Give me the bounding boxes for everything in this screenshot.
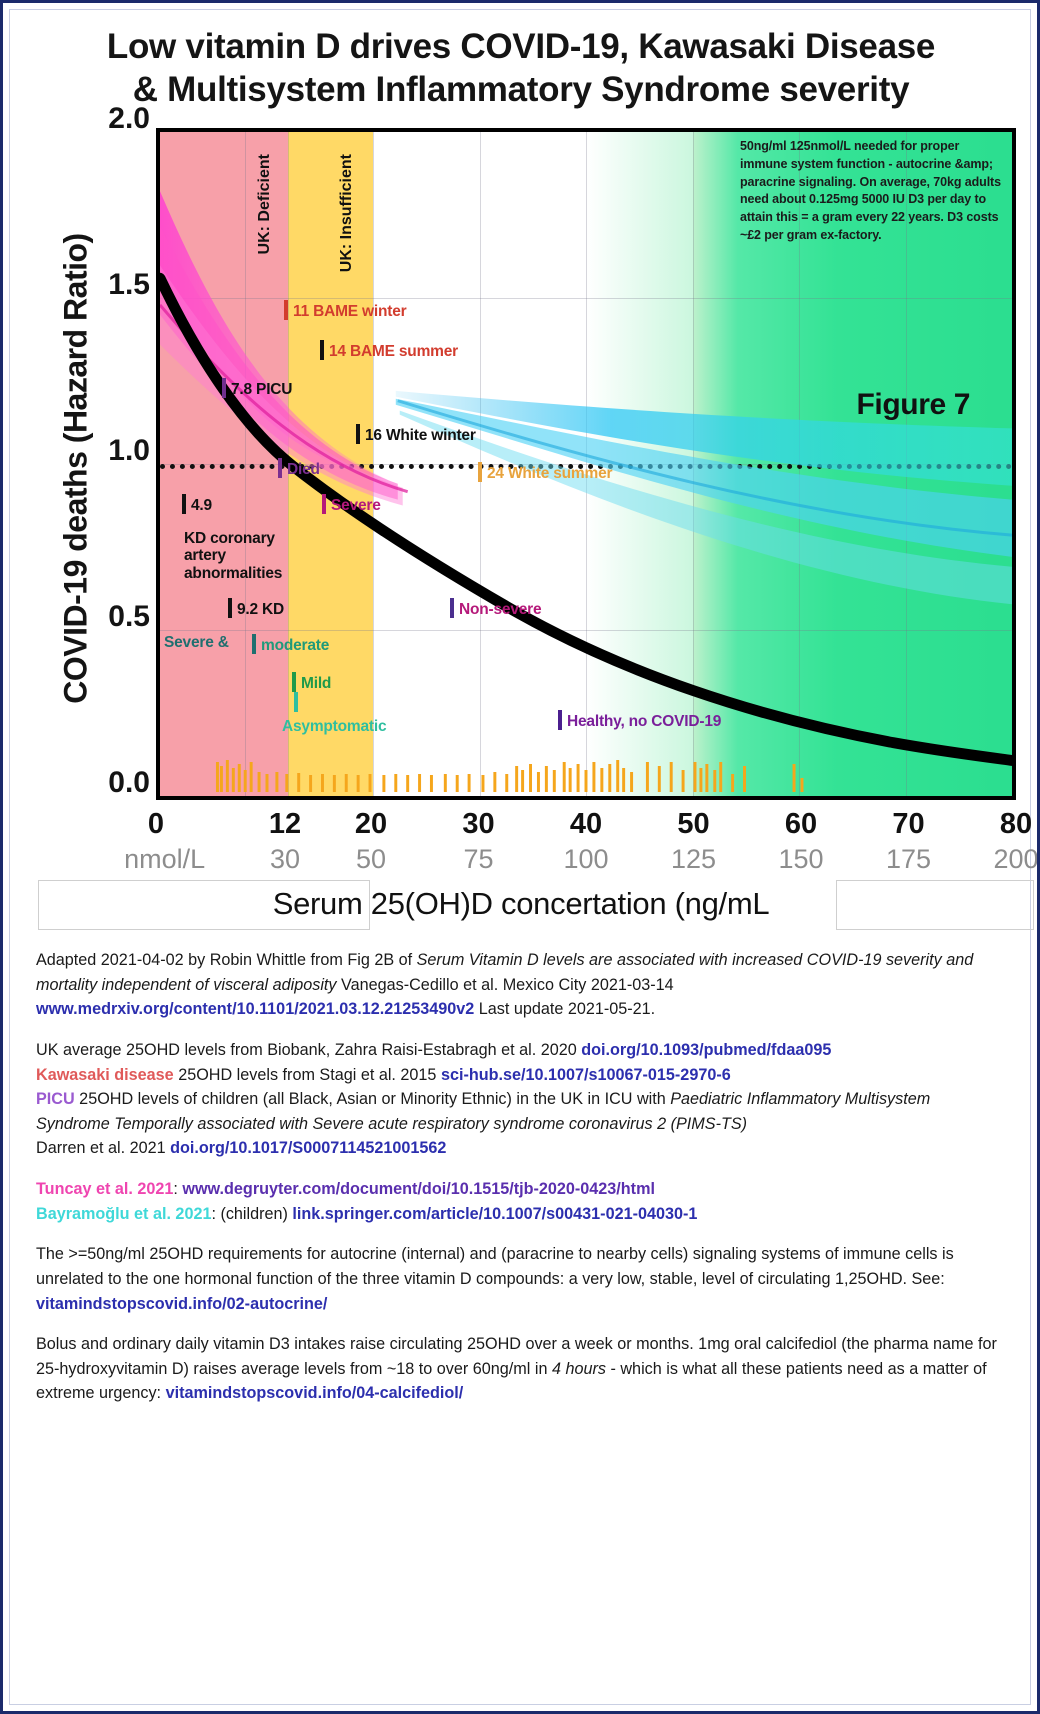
x-tick-30: 30 xyxy=(462,808,494,841)
plot-area: UK: Deficient UK: Insufficient 50ng/ml 1… xyxy=(156,128,1016,800)
band-label-deficient: UK: Deficient xyxy=(256,154,274,254)
x-tick-70: 70 xyxy=(892,808,924,841)
note3-bayramoglu-label: Bayramoğlu et al. 2021 xyxy=(36,1205,211,1223)
marker-died: Died xyxy=(278,458,320,479)
marker-tick-icon xyxy=(278,458,282,478)
figure-page: Low vitamin D drives COVID-19, Kawasaki … xyxy=(0,0,1040,1714)
y-tick-2: 2.0 xyxy=(66,102,150,136)
note5-link-calcifediol[interactable]: vitamindstopscovid.info/04-calcifediol/ xyxy=(166,1384,464,1402)
marker-11-bame-winter: 11 BAME winter xyxy=(284,300,406,321)
marker-kd-coronary-artery-abnormalities: KD coronary artery abnormalities xyxy=(184,530,302,582)
note3-link-degruyter[interactable]: www.degruyter.com/document/doi/10.1515/t… xyxy=(182,1180,655,1198)
note2-line1: UK average 25OHD levels from Biobank, Za… xyxy=(36,1041,831,1059)
note5-italic: 4 hours xyxy=(552,1360,606,1378)
y-tick-0_5: 0.5 xyxy=(66,600,150,634)
note2-picu-label: PICU xyxy=(36,1090,75,1108)
x-tick-150-nmoll: 150 xyxy=(778,844,823,875)
note-paragraph-2: UK average 25OHD levels from Biobank, Za… xyxy=(36,1038,1008,1161)
note-paragraph-3: Tuncay et al. 2021: www.degruyter.com/do… xyxy=(36,1177,1008,1226)
note2-link-doi-pubmed[interactable]: doi.org/10.1093/pubmed/fdaa095 xyxy=(581,1041,831,1059)
note2-l1a: UK average 25OHD levels from Biobank, Za… xyxy=(36,1041,581,1059)
band-label-insufficient: UK: Insufficient xyxy=(338,154,356,272)
note2-line3: PICU 25OHD levels of children (all Black… xyxy=(36,1090,930,1133)
note1-link-medrxiv[interactable]: www.medrxiv.org/content/10.1101/2021.03.… xyxy=(36,1000,474,1018)
y-axis-ticks: 2.0 1.5 1.0 0.5 0.0 xyxy=(64,120,150,800)
marker-severe-and: Severe & xyxy=(164,634,229,652)
x-axis-label: Serum 25(OH)D concertation (ng/mL xyxy=(24,886,1018,922)
chart-figure: COVID-19 deaths (Hazard Ratio) 2.0 1.5 1… xyxy=(24,120,1018,930)
note-paragraph-1: Adapted 2021-04-02 by Robin Whittle from… xyxy=(36,948,1008,1022)
note3-link-springer[interactable]: link.springer.com/article/10.1007/s00431… xyxy=(292,1205,697,1223)
marker-severe: Severe xyxy=(322,494,381,515)
note2-line4: Darren et al. 2021 doi.org/10.1017/S0007… xyxy=(36,1139,446,1157)
marker-tick-icon xyxy=(222,378,226,398)
x-tick-125-nmoll: 125 xyxy=(671,844,716,875)
x-axis-unit-nmoll: nmol/L xyxy=(124,844,205,875)
note1-b: Vanegas-Cedillo et al. Mexico City 2021-… xyxy=(337,976,674,994)
note3-line2: Bayramoğlu et al. 2021: (children) link.… xyxy=(36,1205,697,1223)
note-paragraph-4: The >=50ng/ml 25OHD requirements for aut… xyxy=(36,1242,1008,1316)
marker-tick-icon xyxy=(292,672,296,692)
notes-block: Adapted 2021-04-02 by Robin Whittle from… xyxy=(36,948,1008,1422)
note2-line2: Kawasaki disease 25OHD levels from Stagi… xyxy=(36,1066,731,1084)
rug-plot xyxy=(160,760,1012,792)
marker-mild: Mild xyxy=(292,672,331,693)
marker-tick-icon xyxy=(320,340,324,360)
note1-c: Last update 2021-05-21. xyxy=(474,1000,655,1018)
curve-bayramoglu xyxy=(396,391,1012,604)
x-axis-ticks-nmoll: nmol/L 30 50 75 100 125 150 175 200 xyxy=(156,844,1016,878)
x-tick-100-nmoll: 100 xyxy=(563,844,608,875)
page-title-line2: & Multisystem Inflammatory Syndrome seve… xyxy=(10,69,1032,112)
x-tick-12: 12 xyxy=(269,808,301,841)
figure-label: Figure 7 xyxy=(857,388,971,422)
note3-tuncay-label: Tuncay et al. 2021 xyxy=(36,1180,173,1198)
x-tick-30-nmoll: 30 xyxy=(270,844,300,875)
x-axis-ticks-ngml: 0 12 20 30 40 50 60 70 80 xyxy=(156,808,1016,844)
note1-a: Adapted 2021-04-02 by Robin Whittle from… xyxy=(36,951,417,969)
x-tick-60: 60 xyxy=(785,808,817,841)
x-tick-20: 20 xyxy=(355,808,387,841)
marker-16-white-winter: 16 White winter xyxy=(356,424,476,445)
marker-tick-icon xyxy=(322,494,326,514)
marker-24-white-summer: 24 White summer xyxy=(478,462,612,483)
x-tick-50: 50 xyxy=(677,808,709,841)
marker-non-severe: Non-severe xyxy=(450,598,541,619)
note2-link-doi-cambridge[interactable]: doi.org/10.1017/S0007114521001562 xyxy=(170,1139,446,1157)
y-tick-0: 0.0 xyxy=(66,766,150,800)
marker-4_9: 4.9 xyxy=(182,494,212,515)
marker-moderate: moderate xyxy=(252,634,329,655)
note3-l2b: : (children) xyxy=(211,1205,292,1223)
marker-healthy-no-covid: Healthy, no COVID-19 xyxy=(558,710,721,731)
marker-tick-icon xyxy=(356,424,360,444)
note4-a: The >=50ng/ml 25OHD requirements for aut… xyxy=(36,1245,954,1288)
x-tick-80: 80 xyxy=(1000,808,1032,841)
marker-9_2-kd: 9.2 KD xyxy=(228,598,284,619)
marker-tick-icon xyxy=(478,462,482,482)
marker-tick-icon xyxy=(284,300,288,320)
note2-l4a: Darren et al. 2021 xyxy=(36,1139,170,1157)
x-tick-40: 40 xyxy=(570,808,602,841)
x-tick-75-nmoll: 75 xyxy=(463,844,493,875)
x-tick-175-nmoll: 175 xyxy=(886,844,931,875)
marker-asymptomatic: Asymptomatic xyxy=(282,718,386,736)
marker-tick-icon xyxy=(182,494,186,514)
y-tick-1_5: 1.5 xyxy=(66,268,150,302)
y-tick-1: 1.0 xyxy=(66,434,150,468)
marker-tick-icon xyxy=(228,598,232,618)
annotation-box: 50ng/ml 125nmol/L needed for proper immu… xyxy=(740,138,1006,245)
x-tick-200-nmoll: 200 xyxy=(993,844,1038,875)
note2-l3b: 25OHD levels of children (all Black, Asi… xyxy=(75,1090,671,1108)
page-title: Low vitamin D drives COVID-19, Kawasaki … xyxy=(10,26,1032,111)
page-title-line1: Low vitamin D drives COVID-19, Kawasaki … xyxy=(107,27,935,66)
marker-14-bame-summer: 14 BAME summer xyxy=(320,340,458,361)
marker-tick-icon xyxy=(450,598,454,618)
x-tick-50-nmoll: 50 xyxy=(356,844,386,875)
marker-tick-icon xyxy=(294,692,298,712)
note2-link-scihub[interactable]: sci-hub.se/10.1007/s10067-015-2970-6 xyxy=(441,1066,731,1084)
x-tick-0: 0 xyxy=(148,808,164,841)
note-paragraph-5: Bolus and ordinary daily vitamin D3 inta… xyxy=(36,1332,1008,1406)
note2-l2b: 25OHD levels from Stagi et al. 2015 xyxy=(174,1066,441,1084)
marker-tick-icon xyxy=(252,634,256,654)
note2-kawasaki-label: Kawasaki disease xyxy=(36,1066,174,1084)
note3-line1: Tuncay et al. 2021: www.degruyter.com/do… xyxy=(36,1180,655,1198)
marker-tick-icon xyxy=(558,710,562,730)
note4-link-autocrine[interactable]: vitamindstopscovid.info/02-autocrine/ xyxy=(36,1295,327,1313)
figure-inner-frame: Low vitamin D drives COVID-19, Kawasaki … xyxy=(9,9,1031,1705)
marker-7_8-picu: 7.8 PICU xyxy=(222,378,292,399)
